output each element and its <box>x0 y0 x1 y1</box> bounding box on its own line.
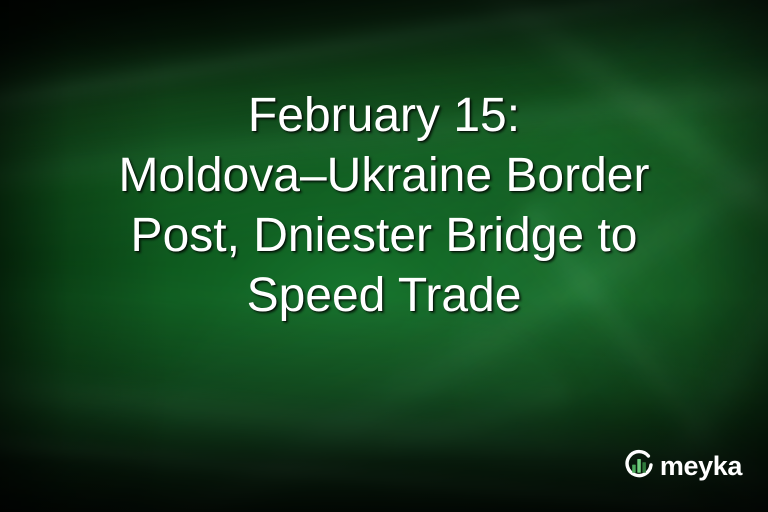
headline-text: February 15: Moldova–Ukraine Border Post… <box>84 86 684 326</box>
headline-container: February 15: Moldova–Ukraine Border Post… <box>0 86 768 326</box>
brand-logo[interactable]: meyka <box>622 448 742 482</box>
meyka-circle-bars-icon <box>622 448 656 482</box>
brand-name: meyka <box>660 453 742 480</box>
news-card: February 15: Moldova–Ukraine Border Post… <box>0 0 768 512</box>
